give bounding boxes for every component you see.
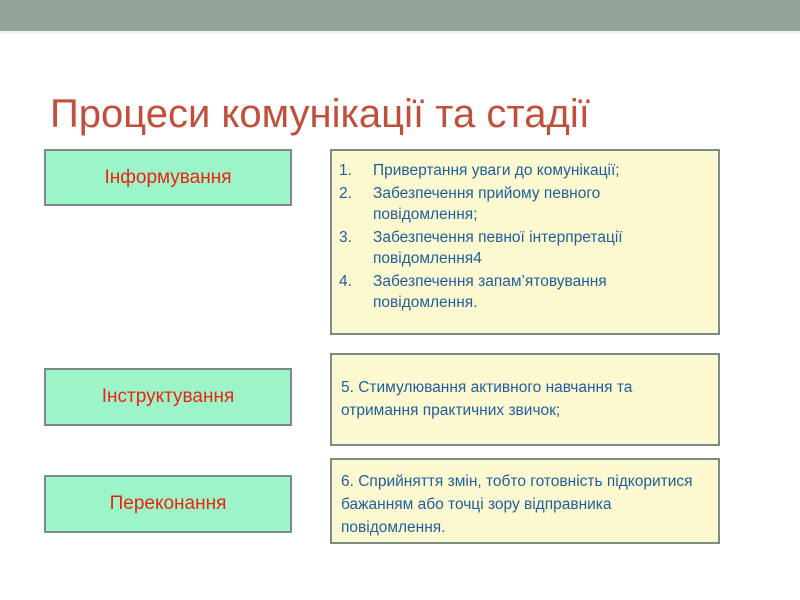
page-title: Процеси комунікації та стадії bbox=[50, 91, 750, 137]
slide-canvas: Процеси комунікації та стадії Інформуван… bbox=[0, 0, 800, 600]
stage-box-informuvannya[interactable]: Інформування bbox=[44, 149, 292, 206]
list-item: Привертання уваги до комунікації; bbox=[332, 160, 708, 182]
detail-paragraph: 5. Стимулювання активного навчання та от… bbox=[332, 355, 718, 422]
stage-label: Інструктування bbox=[102, 386, 235, 408]
stage-label: Інформування bbox=[104, 167, 231, 189]
top-band-rule bbox=[0, 31, 800, 33]
detail-ordered-list: Привертання уваги до комунікації; Забезп… bbox=[332, 151, 718, 314]
detail-paragraph: 6. Сприйняття змін, тобто готовність під… bbox=[332, 460, 718, 539]
top-decorative-band bbox=[0, 0, 800, 31]
list-item: Забезпечення прийому певного повідомленн… bbox=[332, 183, 708, 226]
detail-box-perekonannya: 6. Сприйняття змін, тобто готовність під… bbox=[330, 458, 720, 544]
list-item: Забезпечення запам’ятовування повідомлен… bbox=[332, 271, 708, 314]
detail-box-instruktuvannya: 5. Стимулювання активного навчання та от… bbox=[330, 353, 720, 446]
stage-box-perekonannya[interactable]: Переконання bbox=[44, 475, 292, 533]
list-item: Забезпечення певної інтерпретації повідо… bbox=[332, 227, 708, 270]
detail-box-informuvannya: Привертання уваги до комунікації; Забезп… bbox=[330, 149, 720, 335]
stage-label: Переконання bbox=[110, 493, 227, 515]
stage-box-instruktuvannya[interactable]: Інструктування bbox=[44, 368, 292, 426]
